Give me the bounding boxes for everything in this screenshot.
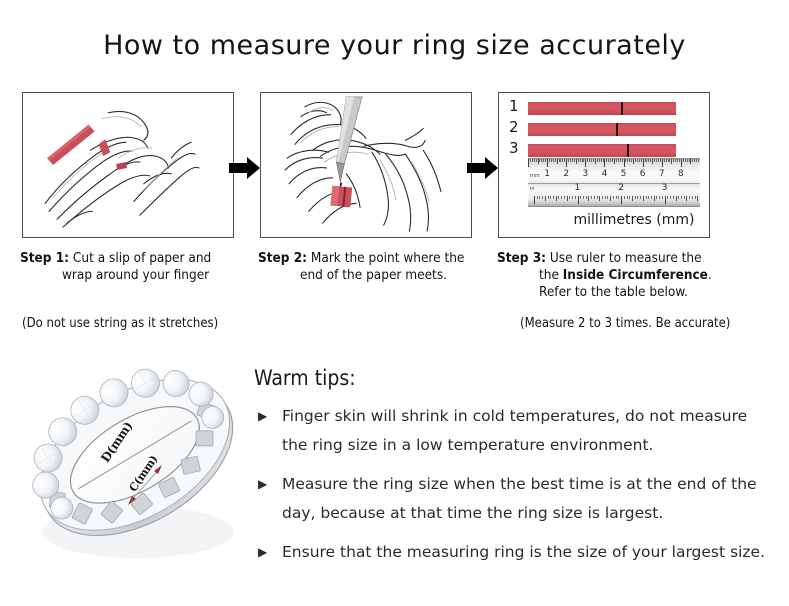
step-3-caption: Step 3: Use ruler to measure the the Ins… (497, 250, 747, 301)
warm-tips-heading: Warm tips: (254, 366, 356, 390)
ruler-metric-scale: 12345678mm (528, 159, 700, 184)
warm-tip-text: Finger skin will shrink in cold temperat… (282, 407, 747, 454)
warm-tip-text: Measure the ring size when the best time… (282, 475, 757, 522)
bullet-triangle-icon: ▶ (258, 402, 267, 431)
ring-diagram: D(mm) C(mm) (18, 356, 256, 578)
ruler-cm-label: 2 (563, 170, 569, 179)
page-title: How to measure your ring size accurately (0, 30, 789, 61)
strip-bar-3 (528, 144, 676, 157)
step-2-illustration-panel (260, 92, 472, 238)
hand-marking-paper-with-pen-icon (261, 93, 471, 237)
step-1-caption: Step 1: Cut a slip of paper and wrap aro… (20, 250, 255, 284)
bullet-triangle-icon: ▶ (258, 470, 267, 499)
ruler-cm-label: 8 (678, 170, 684, 179)
step-1-line2: wrap around your finger (20, 267, 255, 284)
strip-mark-2 (616, 123, 618, 136)
ring-photo-illustration (18, 356, 256, 578)
step-3-inside-circumference-emphasis: Inside Circumference (563, 267, 708, 283)
warm-tip-item: ▶ Measure the ring size when the best ti… (256, 470, 776, 528)
step-2-label: Step 2: (258, 250, 307, 266)
ruler-unit-caption: millimetres (mm) (559, 212, 709, 228)
ruler-imperial-scale: 123in (528, 184, 700, 207)
step-arrow-1-icon (229, 155, 261, 181)
strip-bar-1 (528, 102, 676, 115)
ruler-cm-label: 1 (544, 170, 550, 179)
paper-band-shape (330, 186, 352, 208)
strip-number-2: 2 (509, 119, 525, 136)
strip-number-1: 1 (509, 98, 525, 115)
step-1-line1: Cut a slip of paper and (73, 250, 211, 266)
strip-number-3: 3 (509, 140, 525, 157)
ruler-cm-label: 6 (640, 170, 646, 179)
step-arrow-2-icon (467, 155, 499, 181)
step-3-line2-suffix: . (708, 267, 712, 283)
pen-shape (336, 97, 362, 190)
step-2-line2: end of the paper meets. (258, 267, 493, 284)
step-3-note: (Measure 2 to 3 times. Be accurate) (520, 316, 730, 332)
step-3-line2: the Inside Circumference. (497, 267, 747, 284)
warm-tip-text: Ensure that the measuring ring is the si… (282, 543, 765, 561)
step-2-caption: Step 2: Mark the point where the end of … (258, 250, 493, 284)
step-3-line3: Refer to the table below. (497, 284, 747, 301)
paper-strip-shape (47, 125, 127, 170)
ruler-metric-unit-label: mm (530, 174, 540, 179)
step-1-note: (Do not use string as it stretches) (22, 316, 218, 332)
ruler-graphic: 12345678mm 123in (528, 158, 700, 207)
ruler-inch-label: 2 (618, 184, 624, 193)
step-3-illustration-panel: 1 2 3 12345678mm 123in millimetres (mm) (498, 92, 710, 238)
step-3-label: Step 3: (497, 250, 546, 266)
ruler-inch-label: 3 (662, 184, 668, 193)
warm-tip-item: ▶ Ensure that the measuring ring is the … (256, 538, 776, 567)
ruler-cm-label: 7 (659, 170, 665, 179)
bullet-triangle-icon: ▶ (258, 538, 267, 567)
ruler-inch-label: 1 (575, 184, 581, 193)
step-3-line1: Use ruler to measure the (550, 250, 702, 266)
ruler-cm-label: 5 (621, 170, 627, 179)
warm-tips-list: ▶ Finger skin will shrink in cold temper… (256, 402, 776, 577)
strip-bar-2 (528, 123, 676, 136)
warm-tip-item: ▶ Finger skin will shrink in cold temper… (256, 402, 776, 460)
strip-mark-3 (627, 144, 629, 157)
ruler-cm-label: 4 (602, 170, 608, 179)
step-1-illustration-panel (22, 92, 234, 238)
ruler-cm-label: 3 (582, 170, 588, 179)
hand-with-paper-strip-icon (23, 93, 233, 237)
step-1-label: Step 1: (20, 250, 69, 266)
strip-mark-1 (621, 102, 623, 115)
step-2-line1: Mark the point where the (311, 250, 465, 266)
ruler-imperial-unit-label: in (530, 187, 535, 192)
step-3-line2-prefix: the (539, 267, 563, 283)
